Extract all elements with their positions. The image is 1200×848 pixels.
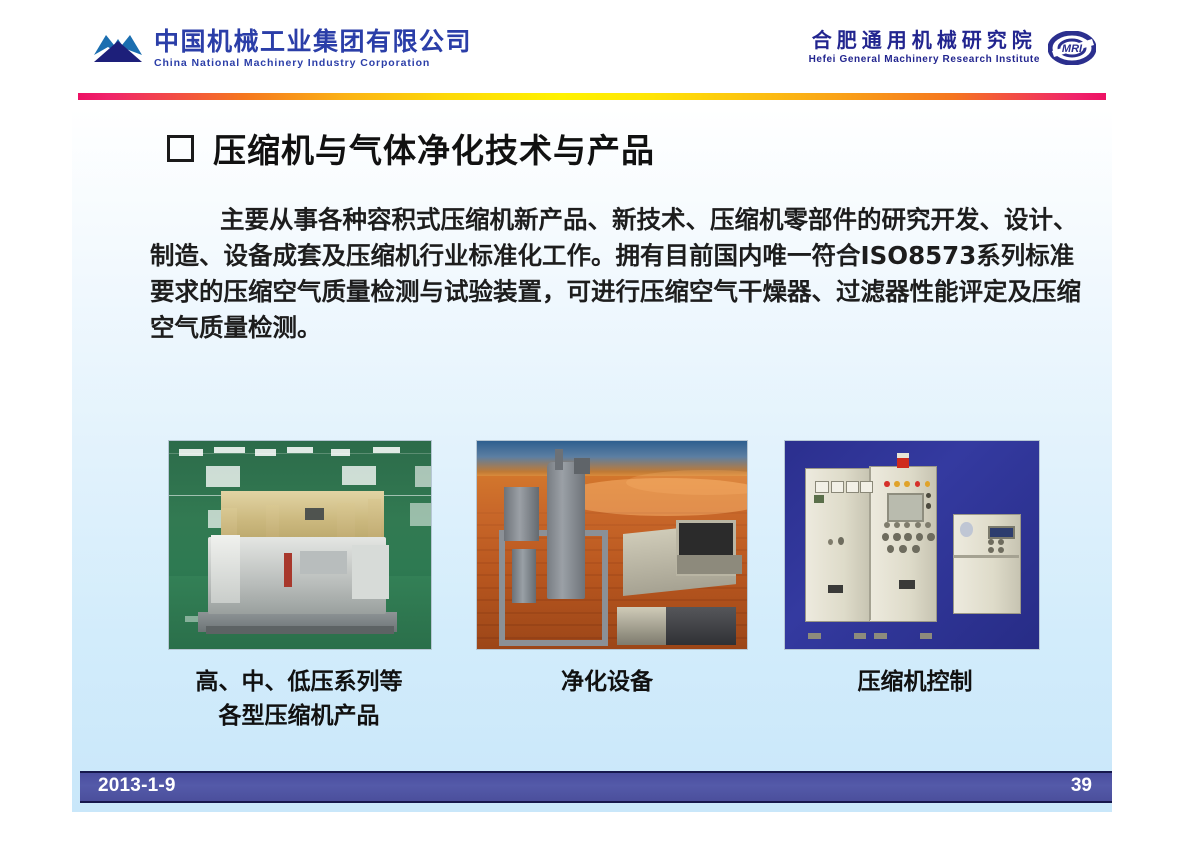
slide-canvas: 中国机械工业集团有限公司 China National Machinery In… — [72, 12, 1112, 812]
footer-page-number: 39 — [1071, 775, 1092, 797]
right-company-name-cn: 合肥通用机械研究院 — [809, 30, 1040, 50]
footer-date: 2013-1-9 — [98, 775, 176, 797]
photo-caption-1: 高、中、低压系列等 各型压缩机产品 — [168, 665, 430, 733]
page-title: 压缩机与气体净化技术与产品 — [213, 124, 655, 172]
photo-caption-2: 净化设备 — [476, 665, 738, 699]
square-bullet-icon — [167, 135, 194, 162]
photo-cell-1: 高、中、低压系列等 各型压缩机产品 — [168, 440, 430, 733]
left-brand-block: 中国机械工业集团有限公司 China National Machinery In… — [92, 29, 472, 69]
compressor-control-cabinet-photo — [784, 440, 1040, 650]
left-company-name-en: China National Machinery Industry Corpor… — [154, 58, 472, 69]
photo-row: 高、中、低压系列等 各型压缩机产品 — [72, 440, 1112, 740]
left-company-name-cn: 中国机械工业集团有限公司 — [154, 29, 472, 54]
slide-footer-bar: 2013-1-9 39 — [80, 771, 1112, 803]
slide-title-row: 压缩机与气体净化技术与产品 — [167, 124, 655, 172]
purification-equipment-photo — [476, 440, 748, 650]
gradient-divider — [78, 93, 1106, 100]
right-brand-block: 合肥通用机械研究院 Hefei General Machinery Resear… — [809, 30, 1096, 65]
photo-cell-2: 净化设备 — [476, 440, 738, 699]
photo-caption-3: 压缩机控制 — [784, 665, 1046, 699]
slide-header: 中国机械工业集团有限公司 China National Machinery In… — [72, 12, 1112, 90]
mri-oval-logo-icon: MRI — [1048, 31, 1096, 65]
svg-text:MRI: MRI — [1062, 43, 1083, 55]
compressor-unit-photo — [168, 440, 432, 650]
body-paragraph: 主要从事各种容积式压缩机新产品、新技术、压缩机零部件的研究开发、设计、制造、设备… — [150, 202, 1085, 346]
mountain-logo-icon — [92, 29, 144, 69]
photo-cell-3: 压缩机控制 — [784, 440, 1046, 699]
right-company-name-en: Hefei General Machinery Research Institu… — [809, 55, 1040, 65]
